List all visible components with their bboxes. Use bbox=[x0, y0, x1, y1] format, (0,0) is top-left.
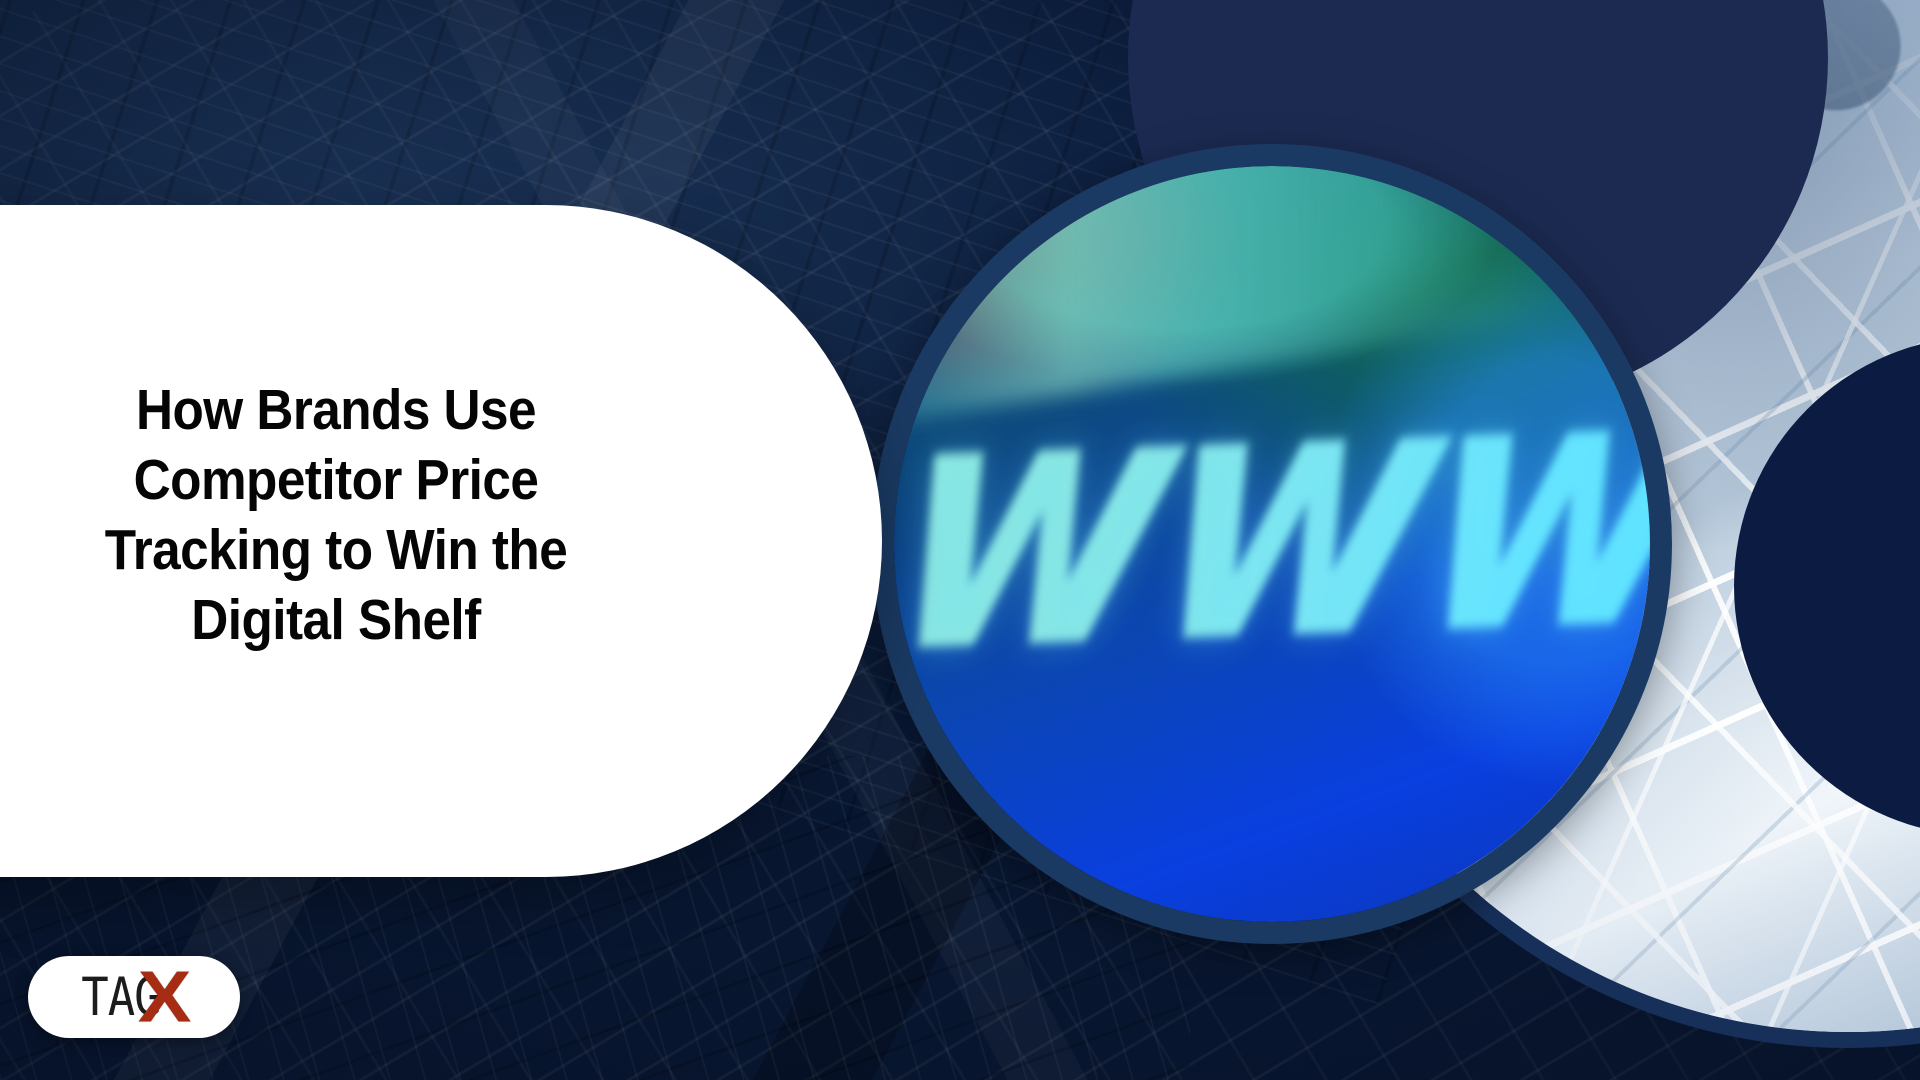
tagx-logo-x-icon: X bbox=[138, 961, 192, 1033]
tagx-logo-mark: TAG X bbox=[28, 956, 240, 1038]
content-card: How Brands Use Competitor Price Tracking… bbox=[0, 205, 882, 877]
www-text: www bbox=[894, 320, 1650, 705]
www-gradient-backdrop: www bbox=[894, 166, 1650, 922]
page-title: How Brands Use Competitor Price Tracking… bbox=[61, 375, 612, 655]
banner-canvas: www How Brands Use Competitor Price Trac… bbox=[0, 0, 1920, 1080]
www-hero-circle: www bbox=[872, 144, 1672, 944]
tagx-logo[interactable]: TAG X bbox=[28, 956, 240, 1038]
